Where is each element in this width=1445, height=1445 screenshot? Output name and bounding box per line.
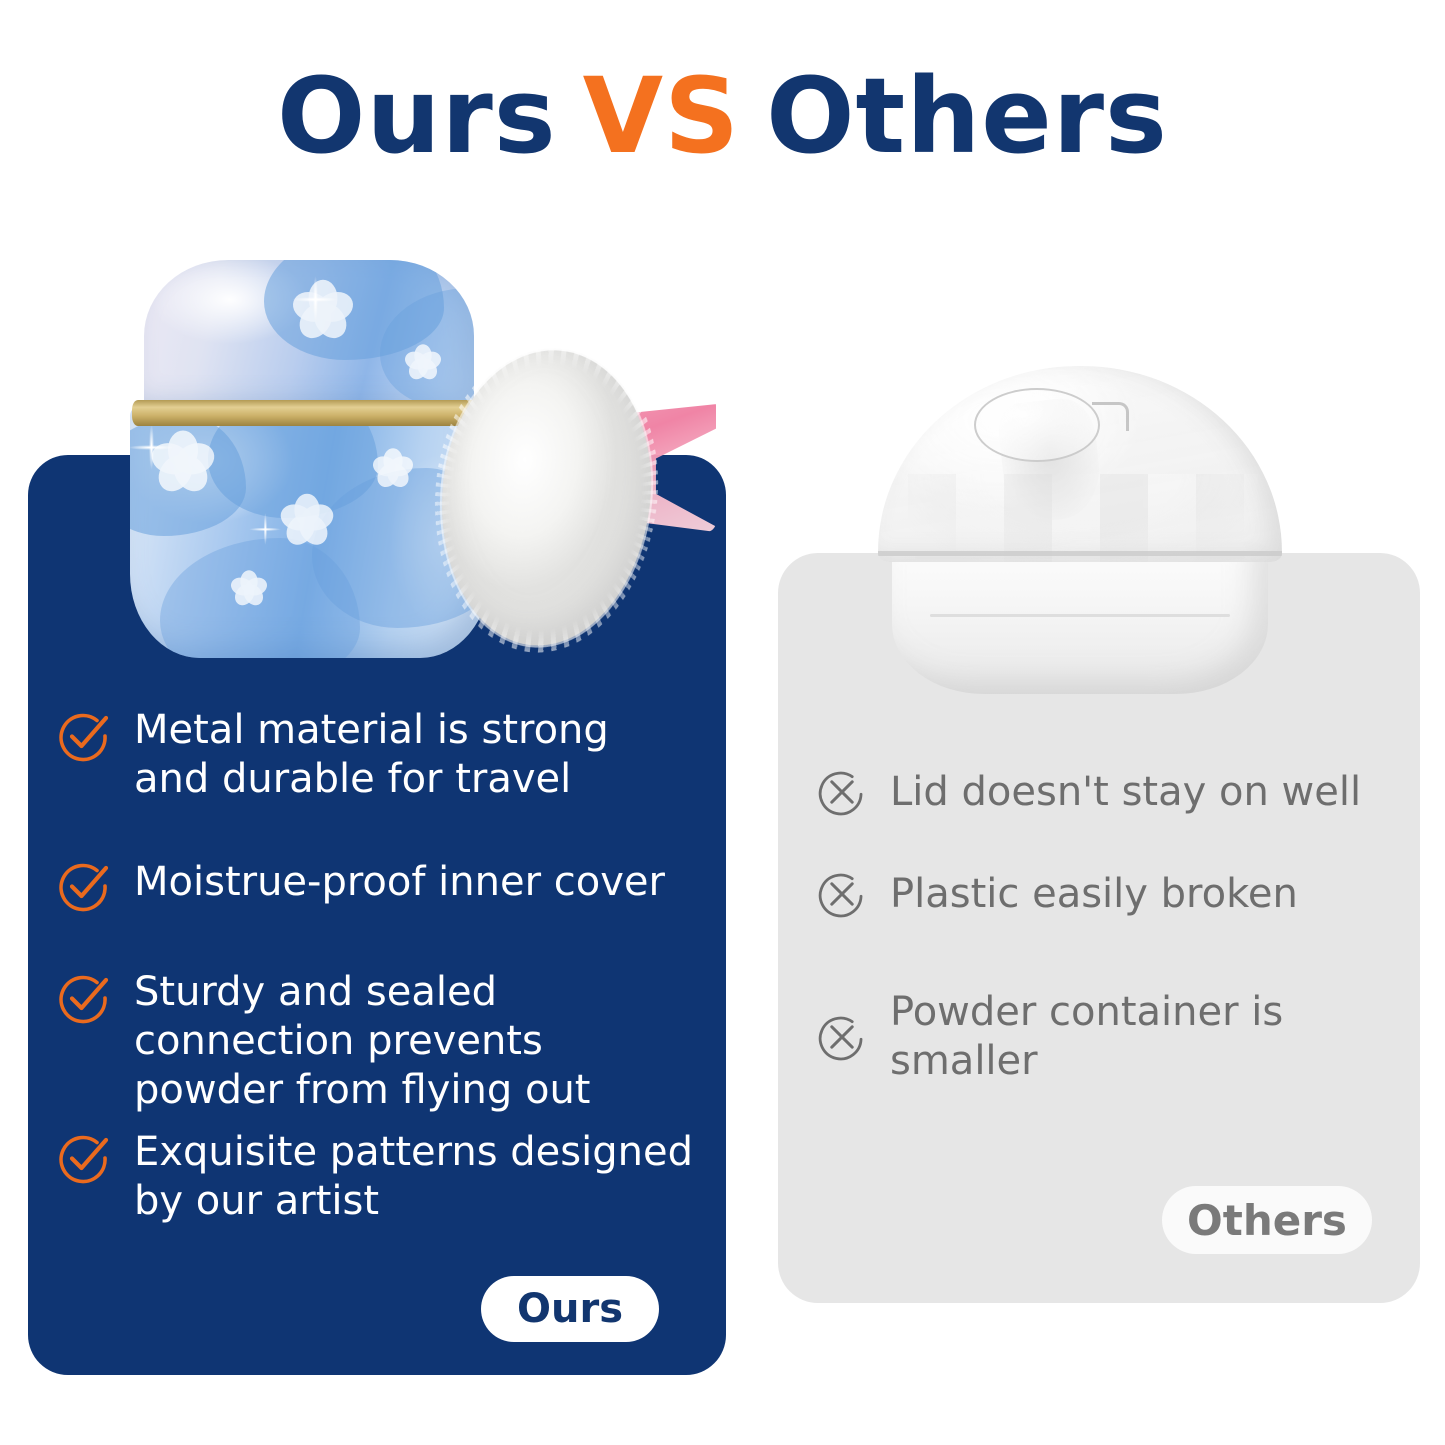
sparkle-icon <box>292 276 338 322</box>
list-item: Moistrue-proof inner cover <box>56 858 696 914</box>
list-item-label: Powder container is smaller <box>890 988 1406 1086</box>
page-title: OursVSOthers <box>0 62 1445 171</box>
x-circle-icon <box>816 868 868 920</box>
list-item: Powder container is smaller <box>816 988 1406 1086</box>
list-item: Exquisite patterns designed by our artis… <box>56 1128 696 1226</box>
metal-tin-lid <box>144 260 474 412</box>
list-item: Metal material is strong and durable for… <box>56 706 696 804</box>
white-plastic-base <box>892 542 1268 694</box>
check-circle-icon <box>56 858 112 914</box>
flower-motif <box>230 570 269 609</box>
list-item-label: Plastic easily broken <box>890 870 1298 919</box>
check-circle-icon <box>56 708 112 764</box>
title-word-others: Others <box>766 62 1168 171</box>
ours-badge: Ours <box>481 1276 659 1342</box>
list-item: Sturdy and sealed connection prevents po… <box>56 968 696 1114</box>
title-word-vs: VS <box>583 62 740 171</box>
gold-band <box>132 400 488 426</box>
others-product-image <box>870 360 1290 700</box>
x-circle-icon <box>816 1011 868 1063</box>
flower-motif <box>279 493 336 550</box>
list-item: Lid doesn't stay on well <box>816 766 1406 818</box>
sparkle-icon <box>249 513 281 545</box>
check-circle-icon <box>56 970 112 1026</box>
lid-knob <box>974 388 1100 462</box>
flower-motif <box>404 344 443 383</box>
flower-motif <box>371 447 414 490</box>
list-item-label: Exquisite patterns designed by our artis… <box>134 1128 696 1226</box>
list-item-label: Metal material is strong and durable for… <box>134 706 696 804</box>
x-circle-icon <box>816 766 868 818</box>
list-item: Plastic easily broken <box>816 868 1406 920</box>
title-word-ours: Ours <box>277 62 557 171</box>
list-item-label: Sturdy and sealed connection prevents po… <box>134 968 696 1114</box>
ours-product-image <box>120 246 740 666</box>
clear-dome-lid <box>878 366 1282 562</box>
list-item-label: Moistrue-proof inner cover <box>134 858 665 907</box>
comparison-infographic: OursVSOthers <box>0 0 1445 1445</box>
list-item-label: Lid doesn't stay on well <box>890 768 1361 817</box>
others-badge: Others <box>1162 1186 1372 1254</box>
sparkle-icon <box>130 424 174 470</box>
check-circle-icon <box>56 1130 112 1186</box>
